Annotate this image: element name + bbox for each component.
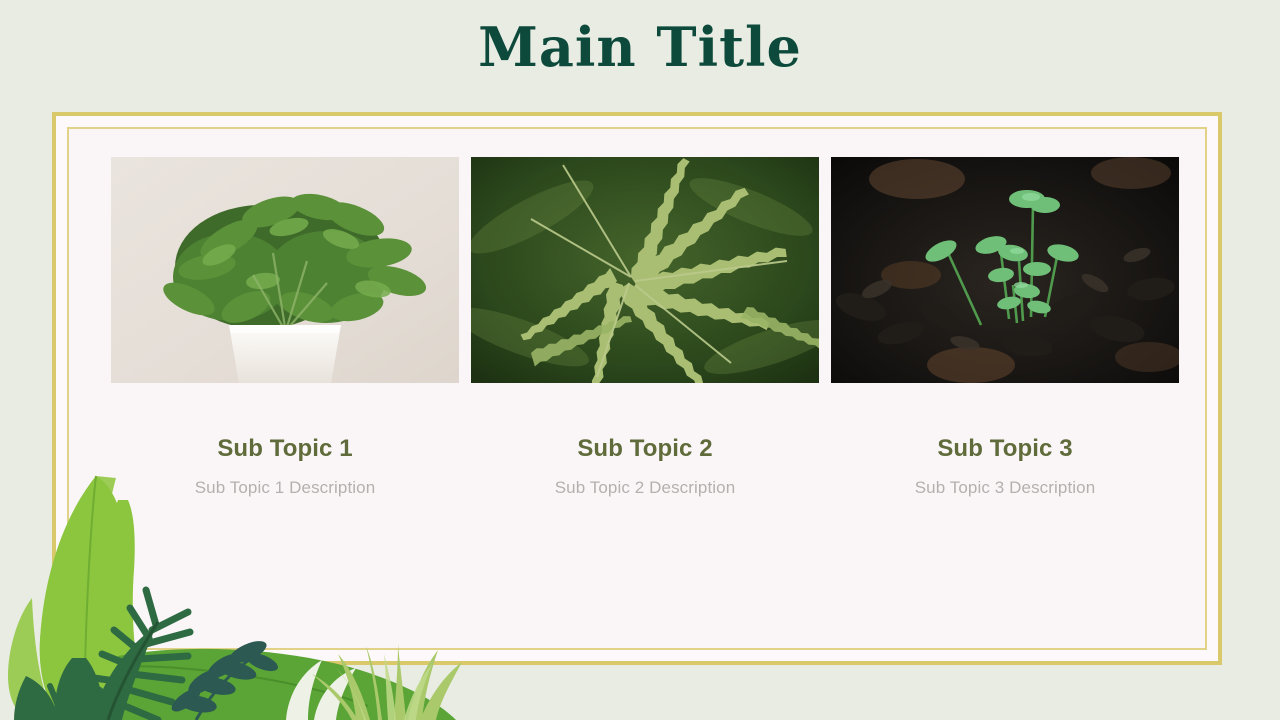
content-column-2: Sub Topic 2 Sub Topic 2 Description <box>471 157 819 498</box>
potted-pothos-plant-photo <box>111 157 459 383</box>
slide-canvas: Main Title <box>0 0 1280 720</box>
sub-topic-description: Sub Topic 1 Description <box>195 478 376 498</box>
sub-topic-description: Sub Topic 2 Description <box>555 478 736 498</box>
sub-topic-heading: Sub Topic 1 <box>217 435 352 464</box>
decorative-frame-inner: Sub Topic 1 Sub Topic 1 Description <box>67 127 1207 650</box>
fern-fronds-photo <box>471 157 819 383</box>
seedlings-in-soil-photo <box>831 157 1179 383</box>
sub-topic-description: Sub Topic 3 Description <box>915 478 1096 498</box>
content-columns: Sub Topic 1 Sub Topic 1 Description <box>111 157 1163 498</box>
content-column-1: Sub Topic 1 Sub Topic 1 Description <box>111 157 459 498</box>
sub-topic-heading: Sub Topic 2 <box>577 435 712 464</box>
sub-topic-heading: Sub Topic 3 <box>937 435 1072 464</box>
page-title: Main Title <box>0 18 1280 77</box>
content-column-3: Sub Topic 3 Sub Topic 3 Description <box>831 157 1179 498</box>
decorative-frame-outer: Sub Topic 1 Sub Topic 1 Description <box>52 112 1222 665</box>
